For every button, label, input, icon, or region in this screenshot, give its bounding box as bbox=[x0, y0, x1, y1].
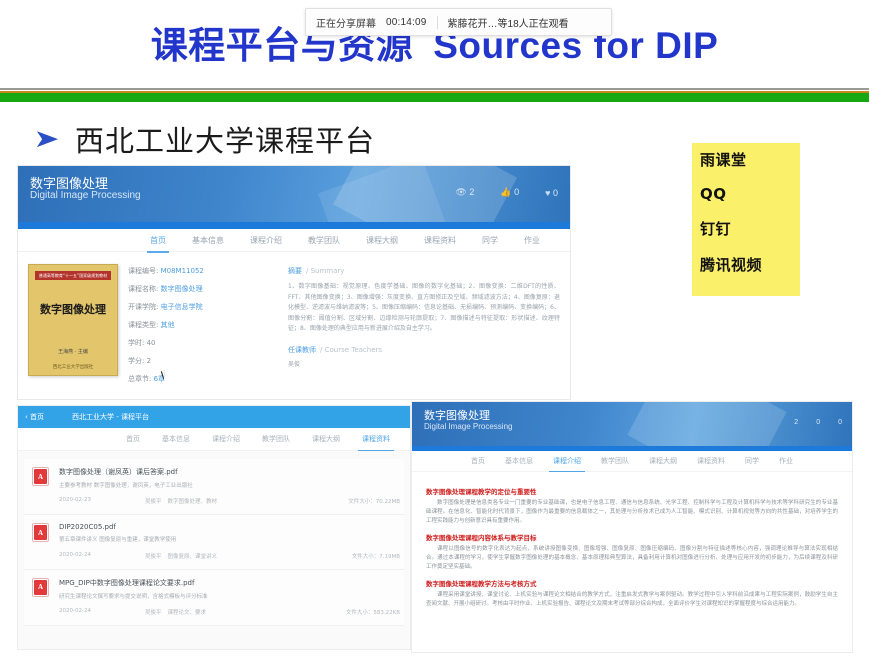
file-uploader-group: 吴俊平图像复原、课堂讲义 bbox=[145, 552, 326, 560]
tab-homework[interactable]: 作业 bbox=[524, 235, 540, 246]
textbook-publisher: 西北工业大学出版社 bbox=[29, 364, 117, 370]
likes-count: 0 bbox=[514, 187, 519, 197]
intro-likes-count: 0 bbox=[816, 419, 820, 426]
favs-stat[interactable]: ♥ 0 bbox=[545, 188, 558, 198]
thumbs-up-icon[interactable]: 👍 bbox=[500, 187, 511, 197]
teacher-name: 吴俊 bbox=[288, 360, 560, 371]
meta-row-hours: 学时: 40 bbox=[128, 338, 278, 348]
platform-list-box: 雨课堂 QQ 钉钉 腾讯视频 bbox=[692, 143, 800, 296]
meta-label-course-type: 课程类型: bbox=[128, 321, 158, 329]
tab-syllabus[interactable]: 课程大纲 bbox=[366, 235, 398, 246]
materials-tabbar: 首页 基本信息 课程介绍 教学团队 课程大纲 课程资料 bbox=[18, 428, 410, 451]
intro-course-title-cn: 数字图像处理 bbox=[424, 407, 490, 423]
mat-tab-home[interactable]: 首页 bbox=[126, 434, 140, 444]
course-title-en: Digital Image Processing bbox=[30, 190, 141, 201]
intro-section-body: 课程采用课堂讲授、课堂讨论、上机实验与课程论文相结合的教学方式，注重启发式教学与… bbox=[426, 591, 838, 609]
intro-tab-home[interactable]: 首页 bbox=[471, 456, 485, 466]
screenshot-course-intro: 数字图像处理 Digital Image Processing 2 0 0 首页… bbox=[412, 402, 852, 652]
textbook-series-banner: 普通高等教育“十一五”国家级规划教材 bbox=[35, 271, 111, 280]
file-date: 2020-02-23 bbox=[59, 497, 145, 505]
course-banner: 数字图像处理 Digital Image Processing 👁 2 👍 0 … bbox=[18, 166, 570, 222]
intro-views-count: 2 bbox=[794, 419, 798, 426]
meta-label-hours: 学时: bbox=[128, 339, 144, 347]
mat-tab-course-materials[interactable]: 课程资料 bbox=[362, 434, 390, 444]
meta-label-credits: 学分: bbox=[128, 357, 144, 365]
pdf-icon: A bbox=[32, 578, 49, 597]
views-count: 2 bbox=[469, 187, 474, 197]
tab-teaching-team[interactable]: 教学团队 bbox=[308, 235, 340, 246]
intro-favs-count: 0 bbox=[838, 419, 842, 426]
pdf-icon: A bbox=[32, 523, 49, 542]
intro-tab-basic-info[interactable]: 基本信息 bbox=[505, 456, 533, 466]
platform-item-yuketang: 雨课堂 bbox=[700, 149, 800, 170]
file-entry: 数字图像处理（谢凤英）课后答案.pdf 主要参考教材 数字图像处理，谢凤英，电子… bbox=[59, 467, 400, 505]
divider-rule-green bbox=[0, 93, 869, 102]
meta-value-hours: 40 bbox=[147, 339, 156, 347]
materials-file-list: A 数字图像处理（谢凤英）课后答案.pdf 主要参考教材 数字图像处理，谢凤英，… bbox=[18, 451, 410, 626]
meta-label-course-code: 课程编号: bbox=[128, 267, 158, 275]
textbook-title: 数字图像处理 bbox=[29, 301, 117, 317]
file-uploader: 吴俊平 bbox=[145, 554, 162, 560]
file-entry: DIP2020C05.pdf 第五章课件讲义 图像复原与重建，课堂教学使用 20… bbox=[59, 523, 400, 559]
file-uploader-group: 吴俊平数字图像处理、教材 bbox=[145, 497, 326, 505]
textbook-cover-image: 普通高等教育“十一五”国家级规划教材 数字图像处理 王海燕 · 主编 西北工业大… bbox=[28, 264, 118, 376]
pdf-icon: A bbox=[32, 467, 49, 486]
table-row[interactable]: A DIP2020C05.pdf 第五章课件讲义 图像复原与重建，课堂教学使用 … bbox=[24, 515, 404, 569]
file-tags: 图像复原、课堂讲义 bbox=[168, 554, 218, 560]
intro-section-heading: 数字图像处理课程内容体系与教学目标 bbox=[426, 532, 838, 542]
meta-value-credits: 2 bbox=[147, 357, 151, 365]
favs-count: 0 bbox=[553, 188, 558, 198]
views-stat: 👁 2 bbox=[455, 187, 474, 198]
summary-heading-cn: 摘要 bbox=[288, 267, 302, 275]
file-entry: MPG_DIP中数字图像处理课程论文要求.pdf 研究生课程论文撰写要求与提交说… bbox=[59, 578, 400, 616]
intro-tab-syllabus[interactable]: 课程大纲 bbox=[649, 456, 677, 466]
heart-icon[interactable]: ♥ bbox=[545, 188, 550, 198]
file-meta: 2020-02-24 吴俊平图像复原、课堂讲义 文件大小：7.19MB bbox=[59, 552, 400, 560]
summary-heading-en: / Summary bbox=[306, 267, 344, 275]
file-name[interactable]: DIP2020C05.pdf bbox=[59, 523, 400, 531]
meta-value-course-type: 其他 bbox=[161, 321, 175, 329]
tab-classmates[interactable]: 同学 bbox=[482, 235, 498, 246]
mat-tab-teaching-team[interactable]: 教学团队 bbox=[262, 434, 290, 444]
meta-label-college: 开课学院: bbox=[128, 303, 158, 311]
meta-row-course-code: 课程编号: M08M11052 bbox=[128, 266, 278, 276]
intro-body: 数字图像处理课程教学的定位与重要性 数字图像处理是信息类各专业一门重要的专业基础… bbox=[412, 472, 852, 610]
file-name[interactable]: 数字图像处理（谢凤英）课后答案.pdf bbox=[59, 467, 400, 477]
platform-item-qq: QQ bbox=[700, 185, 800, 203]
textbook-series-label: 普通高等教育“十一五”国家级规划教材 bbox=[35, 271, 111, 280]
meta-row-college: 开课学院: 电子信息学院 bbox=[128, 302, 278, 312]
file-tags: 课程论文、要求 bbox=[168, 610, 207, 616]
tab-home[interactable]: 首页 bbox=[150, 235, 166, 246]
table-row[interactable]: A 数字图像处理（谢凤英）课后答案.pdf 主要参考教材 数字图像处理，谢凤英，… bbox=[24, 459, 404, 515]
materials-breadcrumb-bar: ‹ 首页 西北工业大学 - 课程平台 bbox=[18, 406, 410, 428]
course-summary-panel: 摘要/ Summary 1、数字图像基础：视觉原理、色度学基础、图像的数字化基础… bbox=[288, 264, 560, 392]
teachers-heading-en: / Course Teachers bbox=[320, 346, 382, 354]
tab-course-materials[interactable]: 课程资料 bbox=[424, 235, 456, 246]
meta-row-course-type: 课程类型: 其他 bbox=[128, 320, 278, 330]
course-tabbar: 首页 基本信息 课程介绍 教学团队 课程大纲 课程资料 同学 作业 bbox=[18, 229, 570, 252]
file-description: 主要参考教材 数字图像处理，谢凤英，电子工业出版社 bbox=[59, 482, 400, 490]
file-uploader-group: 吴俊平课程论文、要求 bbox=[145, 608, 326, 616]
intro-banner: 数字图像处理 Digital Image Processing 2 0 0 bbox=[412, 402, 852, 446]
slide-canvas: 课程平台与资源Sources for DIP ➤ 西北工业大学课程平台 雨课堂 … bbox=[0, 0, 869, 657]
meta-value-course-code: M08M11052 bbox=[161, 267, 204, 275]
meta-value-college: 电子信息学院 bbox=[161, 303, 203, 311]
file-tags: 数字图像处理、教材 bbox=[168, 499, 218, 505]
file-name[interactable]: MPG_DIP中数字图像处理课程论文要求.pdf bbox=[59, 578, 400, 588]
intro-section-body: 数字图像处理是信息类各专业一门重要的专业基础课，也是电子信息工程、通信与信息系统… bbox=[426, 499, 838, 526]
intro-stats: 2 0 0 bbox=[794, 419, 842, 426]
screenshot-course-home: 数字图像处理 Digital Image Processing 👁 2 👍 0 … bbox=[18, 166, 570, 399]
bullet-heading: ➤ 西北工业大学课程平台 bbox=[36, 118, 375, 160]
mat-tab-course-intro[interactable]: 课程介绍 bbox=[212, 434, 240, 444]
intro-tabbar: 首页 基本信息 课程介绍 教学团队 课程大纲 课程资料 同学 作业 bbox=[412, 451, 852, 472]
breadcrumb-back-link[interactable]: ‹ 首页 bbox=[25, 412, 44, 422]
file-meta: 2020-02-23 吴俊平数字图像处理、教材 文件大小：70.22MB bbox=[59, 497, 400, 505]
screen-share-status-bar: 正在分享屏幕 00:14:09 紫藤花开…等18人正在观看 bbox=[305, 8, 612, 36]
share-viewers-label: 紫藤花开…等18人正在观看 bbox=[448, 15, 569, 30]
intro-tab-course-materials[interactable]: 课程资料 bbox=[697, 456, 725, 466]
arrow-bullet-icon: ➤ bbox=[33, 127, 59, 152]
meta-label-course-name: 课程名称: bbox=[128, 285, 158, 293]
intro-tab-classmates[interactable]: 同学 bbox=[745, 456, 759, 466]
file-size: 文件大小：7.19MB bbox=[326, 552, 400, 560]
file-meta: 2020-02-24 吴俊平课程论文、要求 文件大小：583.22KB bbox=[59, 608, 400, 616]
mat-tab-syllabus[interactable]: 课程大纲 bbox=[312, 434, 340, 444]
file-date: 2020-02-24 bbox=[59, 608, 145, 616]
intro-section-heading: 数字图像处理课程教学方法与考核方式 bbox=[426, 578, 838, 588]
share-status-label: 正在分享屏幕 bbox=[316, 15, 376, 30]
meta-value-course-name: 数字图像处理 bbox=[161, 285, 203, 293]
screenshot-course-materials: ‹ 首页 西北工业大学 - 课程平台 首页 基本信息 课程介绍 教学团队 课程大… bbox=[18, 406, 410, 649]
teachers-heading-cn: 任课教师 bbox=[288, 346, 316, 354]
share-timer: 00:14:09 bbox=[386, 17, 427, 28]
meta-row-chapters: 总章节: 6章 bbox=[128, 374, 278, 384]
eye-icon: 👁 bbox=[455, 187, 466, 197]
tab-course-intro[interactable]: 课程介绍 bbox=[250, 235, 282, 246]
mat-tab-basic-info[interactable]: 基本信息 bbox=[162, 434, 190, 444]
bullet-heading-label: 西北工业大学课程平台 bbox=[75, 118, 375, 160]
meta-label-chapters: 总章节: bbox=[128, 375, 151, 383]
meta-row-credits: 学分: 2 bbox=[128, 356, 278, 366]
intro-section-heading: 数字图像处理课程教学的定位与重要性 bbox=[426, 486, 838, 496]
intro-tab-course-intro[interactable]: 课程介绍 bbox=[553, 456, 581, 466]
summary-text: 1、数字图像基础：视觉原理、色度学基础、图像的数字化基础；2、图像变换：二维DF… bbox=[288, 282, 560, 335]
teachers-heading: 任课教师/ Course Teachers bbox=[288, 345, 560, 355]
file-uploader: 吴俊平 bbox=[145, 499, 162, 505]
file-size: 文件大小：70.22MB bbox=[326, 497, 400, 505]
course-home-body: 普通高等教育“十一五”国家级规划教材 数字图像处理 王海燕 · 主编 西北工业大… bbox=[18, 252, 570, 392]
course-meta-list: 课程编号: M08M11052 课程名称: 数字图像处理 开课学院: 电子信息学… bbox=[128, 264, 278, 392]
divider-rule-gray bbox=[0, 88, 869, 90]
intro-course-title-en: Digital Image Processing bbox=[424, 422, 512, 431]
file-size: 文件大小：583.22KB bbox=[326, 608, 400, 616]
likes-stat[interactable]: 👍 0 bbox=[500, 187, 519, 198]
tab-basic-info[interactable]: 基本信息 bbox=[192, 235, 224, 246]
textbook-authors: 王海燕 · 主编 bbox=[29, 348, 117, 355]
table-row[interactable]: A MPG_DIP中数字图像处理课程论文要求.pdf 研究生课程论文撰写要求与提… bbox=[24, 570, 404, 626]
file-date: 2020-02-24 bbox=[59, 552, 145, 560]
banner-accent-bar bbox=[18, 222, 570, 229]
platform-item-tencent-video: 腾讯视频 bbox=[700, 254, 800, 275]
meta-row-course-name: 课程名称: 数字图像处理 bbox=[128, 284, 278, 294]
status-divider bbox=[437, 16, 438, 29]
platform-item-dingding: 钉钉 bbox=[700, 218, 800, 239]
course-stats: 👁 2 👍 0 ♥ 0 bbox=[455, 187, 558, 198]
intro-tab-teaching-team[interactable]: 教学团队 bbox=[601, 456, 629, 466]
intro-section-body: 课程以图像信号的数字化表达为起点，系统讲授图像变换、图像增强、图像复原、图像压缩… bbox=[426, 545, 838, 572]
intro-tab-homework[interactable]: 作业 bbox=[779, 456, 793, 466]
file-description: 研究生课程论文撰写要求与提交说明，含格式模板与评分标准 bbox=[59, 593, 400, 601]
file-description: 第五章课件讲义 图像复原与重建，课堂教学使用 bbox=[59, 536, 400, 544]
file-uploader: 吴俊平 bbox=[145, 610, 162, 616]
summary-heading: 摘要/ Summary bbox=[288, 266, 560, 276]
breadcrumb-path: 西北工业大学 - 课程平台 bbox=[72, 412, 149, 422]
